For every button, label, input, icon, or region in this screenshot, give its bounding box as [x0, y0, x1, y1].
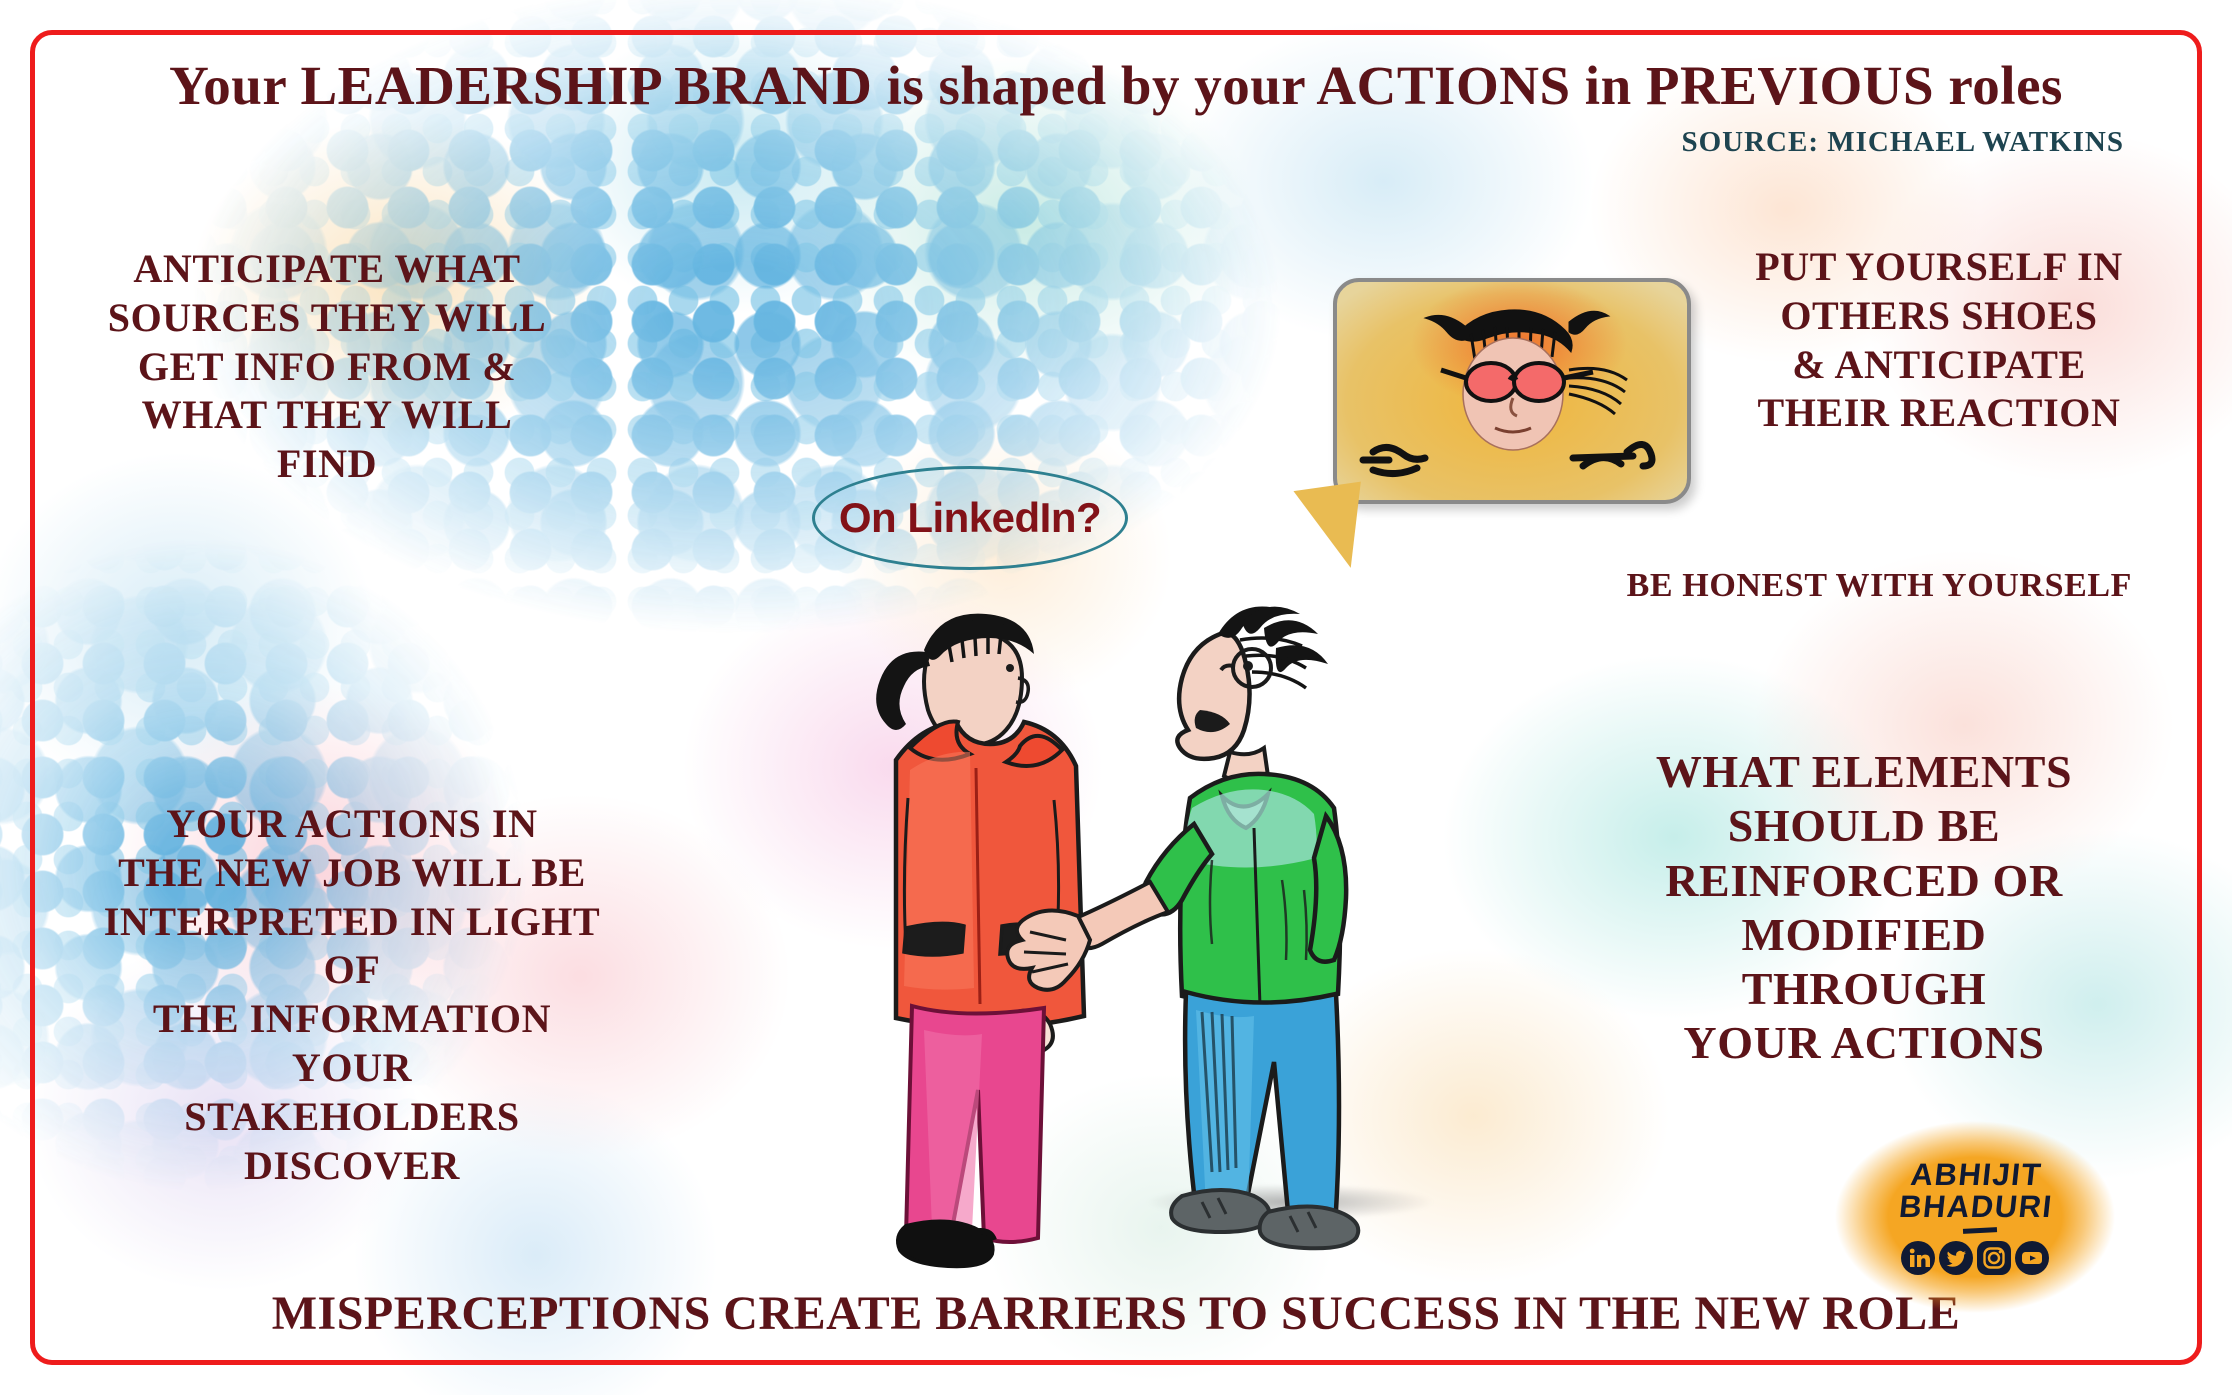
- callout-line: THE INFORMATION YOUR: [92, 995, 612, 1093]
- callout-be-honest-with-yourself: BE HONEST WITH YOURSELF: [1542, 565, 2132, 606]
- callout-line: YOUR ACTIONS: [1604, 1016, 2124, 1070]
- logo-wordmark: ABHIJIT BHADURI: [1892, 1159, 2058, 1222]
- speech-bubble-on-linkedin: On LinkedIn?: [812, 466, 1128, 570]
- callout-line: PUT YOURSELF IN: [1744, 243, 2134, 292]
- callout-line: THE NEW JOB WILL BE: [92, 849, 612, 898]
- callout-line: & ANTICIPATE: [1744, 341, 2134, 390]
- callout-line: BE HONEST WITH YOURSELF: [1542, 565, 2132, 606]
- callout-line: SHOULD BE: [1604, 799, 2124, 853]
- callout-line: OTHERS SHOES: [1744, 292, 2134, 341]
- source-attribution: SOURCE: MICHAEL WATKINS: [1681, 126, 2124, 159]
- brand-logo[interactable]: ABHIJIT BHADURI: [1830, 1117, 2120, 1317]
- callout-line: WHAT THEY WILL FIND: [92, 391, 562, 489]
- callout-line: MODIFIED: [1604, 908, 2124, 962]
- sketched-face-icon: [1337, 282, 1687, 500]
- twitter-icon[interactable]: [1939, 1241, 1973, 1275]
- youtube-icon[interactable]: [2015, 1241, 2049, 1275]
- callout-line: REINFORCED OR: [1604, 854, 2124, 908]
- callout-what-elements-reinforced: WHAT ELEMENTS SHOULD BE REINFORCED OR MO…: [1604, 745, 2124, 1071]
- callout-line: INTERPRETED IN LIGHT OF: [92, 898, 612, 996]
- instagram-icon[interactable]: [1977, 1241, 2011, 1275]
- linkedin-icon[interactable]: [1901, 1241, 1935, 1275]
- callout-line: THROUGH: [1604, 962, 2124, 1016]
- callout-line: ANTICIPATE WHAT: [92, 245, 562, 294]
- callout-line: STAKEHOLDERS DISCOVER: [92, 1093, 612, 1191]
- logo-underline: [1963, 1227, 1997, 1234]
- logo-name-line-1: ABHIJIT: [1909, 1157, 2044, 1192]
- figure-right-green-shirt: [1007, 606, 1358, 1248]
- callout-put-yourself-in-others-shoes: PUT YOURSELF IN OTHERS SHOES & ANTICIPAT…: [1744, 243, 2134, 438]
- infographic-poster: Your LEADERSHIP BRAND is shaped by your …: [0, 0, 2232, 1395]
- callout-line: SOURCES THEY WILL: [92, 294, 562, 343]
- thought-bubble-face: [1333, 278, 1691, 504]
- callout-line: THEIR REACTION: [1744, 389, 2134, 438]
- page-title: Your LEADERSHIP BRAND is shaped by your …: [0, 54, 2232, 117]
- speech-bubble-text: On LinkedIn?: [839, 494, 1101, 542]
- logo-name-line-2: BHADURI: [1898, 1191, 2055, 1223]
- callout-line: YOUR ACTIONS IN: [92, 800, 612, 849]
- illustration-two-people: [760, 560, 1440, 1280]
- callout-anticipate-sources: ANTICIPATE WHAT SOURCES THEY WILL GET IN…: [92, 245, 562, 489]
- figures-svg: [760, 560, 1440, 1280]
- callout-line: WHAT ELEMENTS: [1604, 745, 2124, 799]
- callout-line: GET INFO FROM &: [92, 343, 562, 392]
- callout-actions-interpreted: YOUR ACTIONS IN THE NEW JOB WILL BE INTE…: [92, 800, 612, 1190]
- social-links: [1901, 1241, 2049, 1275]
